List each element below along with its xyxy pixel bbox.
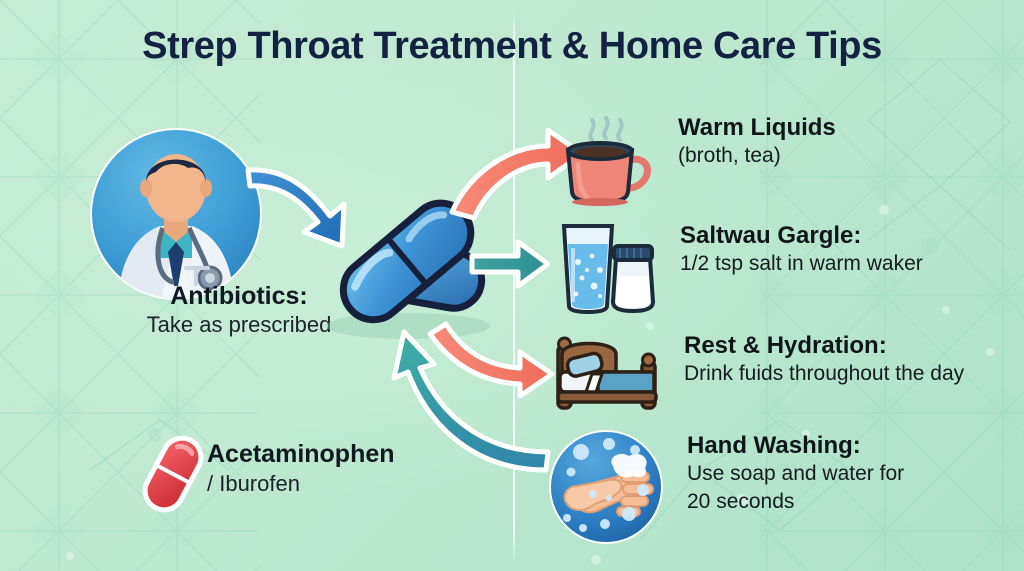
- tip-heading: Warm Liquids: [678, 114, 836, 142]
- tip-text-hand-washing: Hand Washing: Use soap and water for 20 …: [687, 428, 904, 516]
- tip-description-line2: 20 seconds: [687, 488, 904, 516]
- tip-heading: Saltwau Gargle:: [680, 222, 923, 250]
- bed-icon: [550, 328, 662, 419]
- tip-description: (broth, tea): [678, 142, 836, 170]
- water-glass-salt-shaker-icon: [552, 218, 658, 319]
- tip-row-hand-washing: Hand Washing: Use soap and water for 20 …: [547, 428, 904, 551]
- tip-heading: Hand Washing:: [687, 432, 904, 460]
- arrow-pills-to-gargle: [472, 242, 548, 286]
- tip-description-line1: Use soap and water for: [687, 460, 904, 488]
- tip-text-rest-hydration: Rest & Hydration: Drink fuids throughout…: [684, 328, 964, 388]
- warm-mug-icon: [556, 110, 656, 211]
- infographic-canvas: Strep Throat Treatment & Home Care Tips: [0, 0, 1024, 571]
- hand-washing-icon: [547, 428, 665, 551]
- tip-row-warm-liquids: Warm Liquids (broth, tea): [556, 110, 836, 211]
- arrow-doctor-to-pills: [248, 170, 344, 246]
- tip-row-saltwater-gargle: Saltwau Gargle: 1/2 tsp salt in warm wak…: [552, 218, 923, 319]
- tip-description: Drink fuids throughout the day: [684, 360, 964, 388]
- tip-description: 1/2 tsp salt in warm waker: [680, 250, 923, 278]
- tip-text-warm-liquids: Warm Liquids (broth, tea): [678, 110, 836, 170]
- tip-row-rest-hydration: Rest & Hydration: Drink fuids throughout…: [550, 328, 964, 419]
- arrow-pills-to-rest: [430, 324, 552, 396]
- tip-text-saltwater-gargle: Saltwau Gargle: 1/2 tsp salt in warm wak…: [680, 218, 923, 278]
- tip-heading: Rest & Hydration:: [684, 332, 964, 360]
- steam-icon: [590, 118, 621, 140]
